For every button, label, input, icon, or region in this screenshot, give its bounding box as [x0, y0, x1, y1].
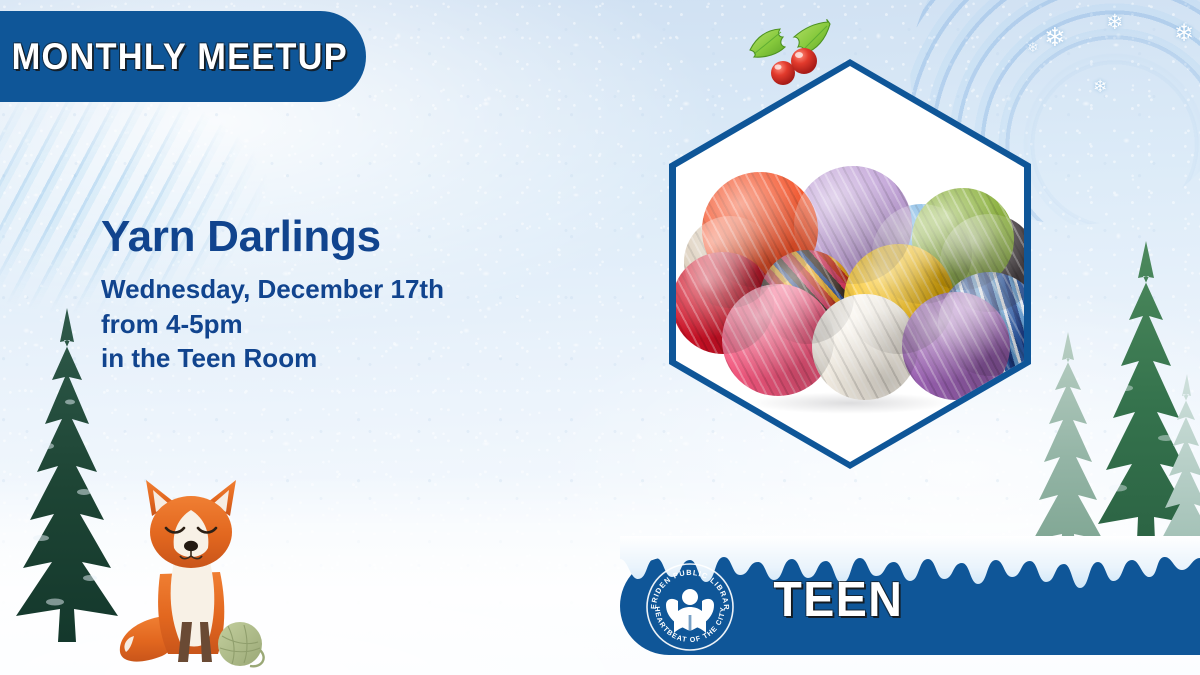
yarn-photo-hexagon-frame	[669, 59, 1031, 469]
event-info-block: Yarn Darlings Wednesday, December 17th f…	[101, 214, 571, 376]
yarn-photo	[676, 66, 1024, 462]
library-logo: MERIDEN PUBLIC LIBRARY HEARTBEAT OF THE …	[644, 561, 736, 653]
event-details: Wednesday, December 17th from 4-5pm in t…	[101, 272, 571, 376]
fox-icon	[116, 466, 266, 671]
snowflake-icon: ❄	[1093, 78, 1107, 95]
pine-tree-icon	[1022, 330, 1114, 578]
event-date: Wednesday, December 17th	[101, 272, 571, 307]
event-location: in the Teen Room	[101, 341, 571, 376]
snowflake-icon: ❄	[1027, 40, 1039, 54]
snowflake-icon: ❄	[1174, 22, 1194, 46]
pine-tree-icon	[1152, 372, 1200, 572]
monthly-meetup-banner: MONTHLY MEETUP	[0, 11, 366, 102]
snowflake-icon: ❄	[1044, 24, 1066, 50]
holly-icon	[742, 16, 838, 94]
event-flyer: ❄ ❄ ❄ ❄ ❄	[0, 0, 1200, 675]
event-time: from 4-5pm	[101, 307, 571, 342]
monthly-meetup-label: MONTHLY MEETUP	[12, 36, 348, 78]
yarn-ball-purple	[902, 292, 1010, 400]
teen-category-label: TEEN	[773, 572, 903, 628]
snowflake-icon: ❄	[1106, 12, 1124, 33]
event-title: Yarn Darlings	[101, 214, 571, 260]
pine-tree-icon	[1082, 238, 1200, 578]
